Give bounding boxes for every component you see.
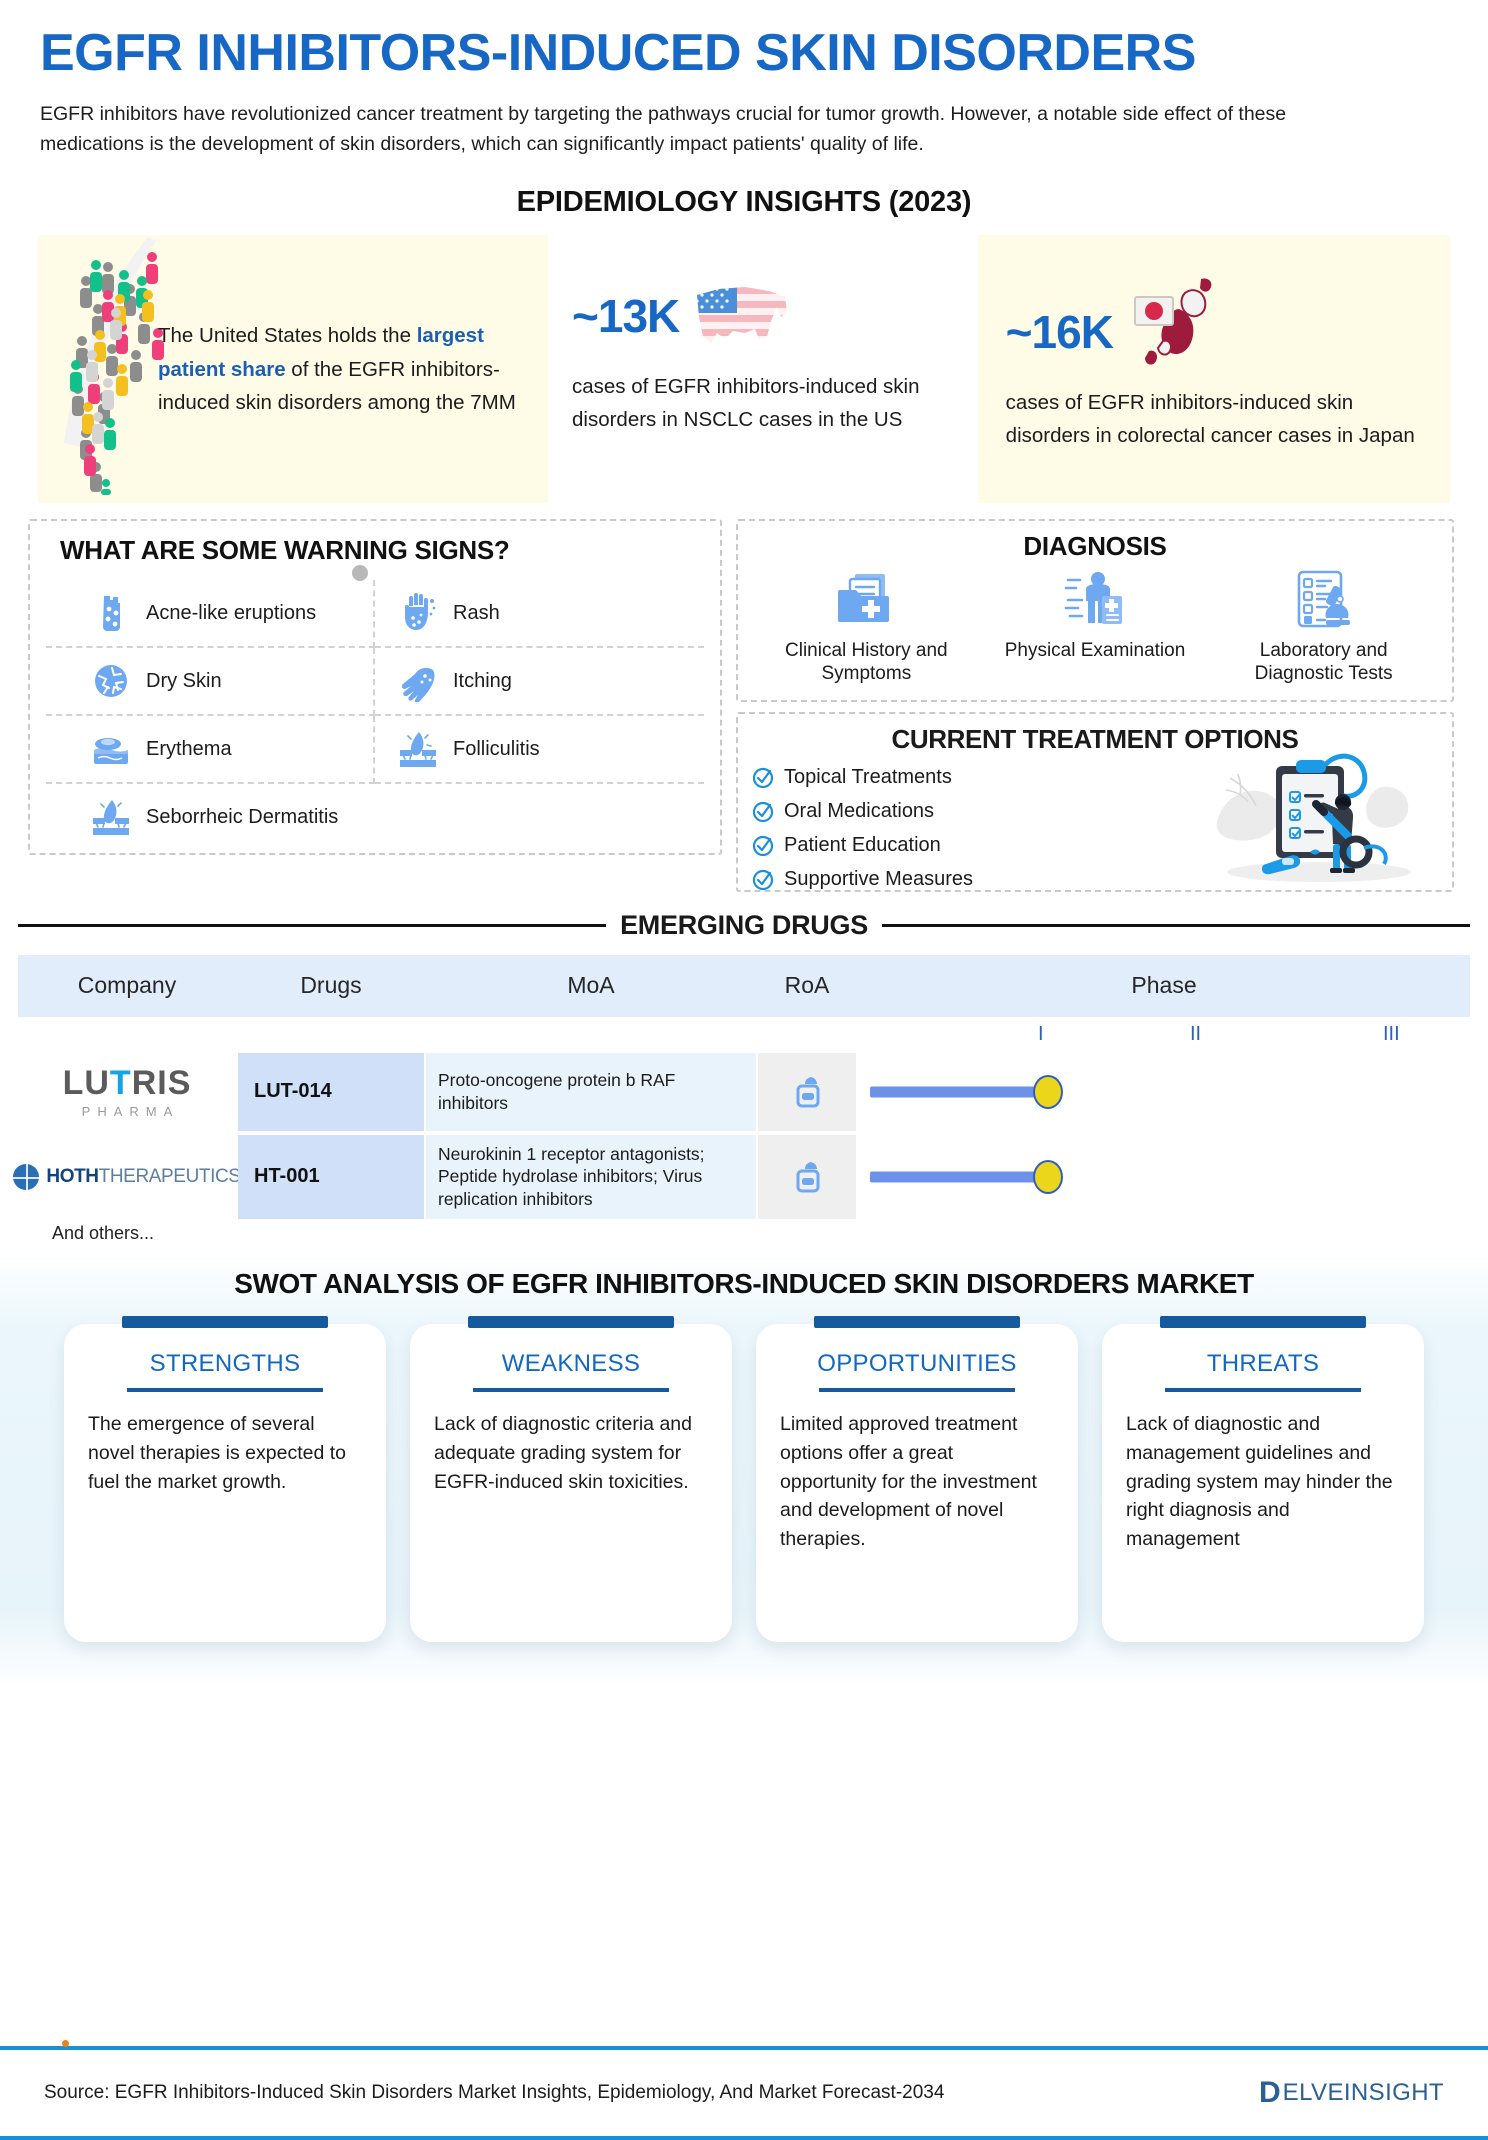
source-text: Source: EGFR Inhibitors-Induced Skin Dis…: [44, 2082, 944, 2104]
swot-underline: [819, 1388, 1015, 1392]
topical-tube-icon: [789, 1074, 825, 1110]
swot-underline: [473, 1388, 669, 1392]
treatment-list: Topical Treatments Oral Medications: [752, 761, 1082, 897]
roa-cell: [758, 1053, 856, 1131]
diagnosis-title: DIAGNOSIS: [752, 531, 1438, 562]
treatment-item-label: Topical Treatments: [784, 766, 952, 789]
emerging-drugs-table: Company Drugs MoA RoA Phase I II III LUT…: [18, 955, 1470, 1244]
seborrheic-dermatitis-icon: [90, 796, 132, 838]
phase-bar: [870, 1171, 1048, 1182]
epidemiology-row: The United States holds the largest pati…: [38, 235, 1450, 503]
epi-us-value: ~13K: [572, 293, 679, 339]
swot-card-weakness: WEAKNESS Lack of diagnostic criteria and…: [410, 1316, 732, 1642]
lutris-logo: LUTRIS PHARMA: [63, 1066, 192, 1118]
diagnosis-item: Clinical History and Symptoms: [752, 568, 981, 686]
swot-body: Lack of diagnostic criteria and adequate…: [434, 1410, 708, 1497]
acne-arm-icon: [90, 592, 132, 634]
warning-sign-label: Itching: [453, 669, 512, 693]
itching-hand-icon: [397, 660, 439, 702]
footer-content: Source: EGFR Inhibitors-Induced Skin Dis…: [0, 2050, 1488, 2136]
swot-heading: OPPORTUNITIES: [780, 1350, 1054, 1378]
epi-card-japan-cases: ~16K cases of EGFR inhibitors-induced sk…: [978, 235, 1450, 503]
phase-tick-1: I: [1038, 1023, 1044, 1046]
phase-knob: [1033, 1160, 1063, 1194]
medical-folder-icon: [835, 568, 897, 630]
epi-card-us-share: The United States holds the largest pati…: [38, 235, 548, 503]
diagnosis-item: Physical Examination: [981, 568, 1210, 686]
erythema-skin-icon: [90, 728, 132, 770]
rule-left: [18, 924, 606, 927]
globe-icon: [13, 1164, 39, 1190]
diagnosis-item-label: Clinical History and Symptoms: [758, 640, 975, 686]
epi-us-value-row: ~13K: [572, 293, 950, 355]
warning-signs-grid: Acne-like eruptions Rash: [46, 580, 704, 850]
treatment-item-label: Supportive Measures: [784, 868, 973, 891]
swot-heading: STRENGTHS: [88, 1350, 362, 1378]
warning-sign-item: Rash: [375, 580, 704, 648]
epi-japan-value: ~16K: [1006, 309, 1113, 355]
physical-exam-icon: [1064, 568, 1126, 630]
phase-cell: [858, 1135, 1470, 1219]
treatment-item: Oral Medications: [752, 795, 1082, 829]
swot-heading: THREATS: [1126, 1350, 1400, 1378]
epi-text-before: The United States holds the: [158, 324, 417, 347]
company-cell: LUTRIS PHARMA: [18, 1053, 236, 1131]
hoth-wordmark: HOTHTHERAPEUTICS: [46, 1166, 240, 1188]
rule-right: [882, 924, 1470, 927]
warning-sign-label: Erythema: [146, 737, 232, 761]
phase-tick-3: III: [1383, 1023, 1400, 1046]
column-header-roa: RoA: [758, 955, 856, 1017]
diagnosis-item: Laboratory and Diagnostic Tests: [1209, 568, 1438, 686]
and-others-note: And others...: [52, 1223, 1470, 1244]
warning-sign-item: Folliculitis: [375, 716, 704, 784]
delveinsight-logo: D ELVEINSIGHT: [1259, 2078, 1444, 2108]
swot-body: The emergence of several novel therapies…: [88, 1410, 362, 1497]
column-header-phase: Phase: [858, 955, 1470, 1017]
drug-name-cell: LUT-014: [238, 1053, 424, 1131]
epi-japan-value-row: ~16K: [1006, 309, 1424, 371]
treatment-item-label: Oral Medications: [784, 800, 934, 823]
emerging-drugs-header: EMERGING DRUGS: [18, 910, 1470, 941]
swot-tab: [1160, 1316, 1366, 1328]
treatment-item: Topical Treatments: [752, 761, 1082, 795]
swot-cards: STRENGTHS The emergence of several novel…: [0, 1316, 1488, 1642]
phase-bar: [870, 1086, 1048, 1097]
hoth-light: THERAPEUTICS: [99, 1166, 241, 1187]
swot-section: SWOT ANALYSIS OF EGFR INHIBITORS-INDUCED…: [0, 1254, 1488, 1688]
warning-sign-item: Acne-like eruptions: [46, 580, 375, 648]
dry-skin-icon: [90, 660, 132, 702]
rash-hand-icon: [397, 592, 439, 634]
table-header-row: Company Drugs MoA RoA Phase: [18, 955, 1470, 1017]
logo-dot: [62, 2040, 69, 2047]
treatment-item: Patient Education: [752, 829, 1082, 863]
swot-heading: WEAKNESS: [434, 1350, 708, 1378]
warning-sign-label: Seborrheic Dermatitis: [146, 805, 338, 829]
moa-cell: Neurokinin 1 receptor antagonists; Pepti…: [426, 1135, 756, 1219]
check-circle-icon: [752, 767, 774, 789]
table-body: LUTRIS PHARMA LUT-014 Proto-oncogene pro…: [18, 1053, 1470, 1219]
lutris-wordmark: LUTRIS: [63, 1066, 192, 1100]
swot-card: STRENGTHS The emergence of several novel…: [64, 1324, 386, 1642]
warning-signs-panel: WHAT ARE SOME WARNING SIGNS? Acne-like e…: [28, 519, 722, 855]
warning-sign-label: Acne-like eruptions: [146, 601, 316, 625]
swot-title: SWOT ANALYSIS OF EGFR INHIBITORS-INDUCED…: [0, 1268, 1488, 1300]
swot-card: OPPORTUNITIES Limited approved treatment…: [756, 1324, 1078, 1642]
swot-tab: [814, 1316, 1020, 1328]
right-column: DIAGNOSIS Clinical History and Sym: [736, 519, 1454, 892]
column-header-moa: MoA: [426, 955, 756, 1017]
phase-tick-2: II: [1190, 1023, 1201, 1046]
diagnosis-item-label: Physical Examination: [1005, 640, 1186, 663]
epi-japan-cases-text: cases of EGFR inhibitors-induced skin di…: [1006, 387, 1424, 453]
logo-d: D: [1259, 2078, 1281, 2108]
epidemiology-title: EPIDEMIOLOGY INSIGHTS (2023): [0, 186, 1488, 219]
treatment-item-label: Patient Education: [784, 834, 941, 857]
header: EGFR INHIBITORS-INDUCED SKIN DISORDERS E…: [0, 0, 1488, 160]
infographic-page: EGFR INHIBITORS-INDUCED SKIN DISORDERS E…: [0, 0, 1488, 2140]
hoth-bold: HOTH: [46, 1166, 98, 1187]
swot-body: Limited approved treatment options offer…: [780, 1410, 1054, 1554]
moa-cell: Proto-oncogene protein b RAF inhibitors: [426, 1053, 756, 1131]
logo-wordmark: ELVEINSIGHT: [1283, 2079, 1444, 2107]
swot-tab: [122, 1316, 328, 1328]
warning-sign-item: Itching: [375, 648, 704, 716]
swot-card-opportunities: OPPORTUNITIES Limited approved treatment…: [756, 1316, 1078, 1642]
company-cell: HOTHTHERAPEUTICS: [18, 1135, 236, 1219]
warning-sign-item: Erythema: [46, 716, 375, 784]
swot-card: WEAKNESS Lack of diagnostic criteria and…: [410, 1324, 732, 1642]
drug-name-cell: HT-001: [238, 1135, 424, 1219]
warning-sign-label: Folliculitis: [453, 737, 540, 761]
usa-flag-map-icon: [689, 277, 793, 355]
treatment-panel: CURRENT TREATMENT OPTIONS Topical Treatm…: [736, 712, 1454, 892]
warning-signs-title: WHAT ARE SOME WARNING SIGNS?: [46, 535, 704, 566]
swot-card-threats: THREATS Lack of diagnostic and managemen…: [1102, 1316, 1424, 1642]
warning-sign-item: Dry Skin: [46, 648, 375, 716]
phase-scale: I II III: [18, 1019, 1470, 1053]
lutris-subtitle: PHARMA: [63, 1105, 192, 1118]
emerging-drugs-title: EMERGING DRUGS: [620, 910, 868, 941]
hoth-logo: HOTHTHERAPEUTICS: [13, 1164, 240, 1190]
column-header-company: Company: [18, 955, 236, 1017]
epi-card-us-cases: ~13K: [548, 235, 978, 503]
phase-cell: [858, 1053, 1470, 1131]
phase-knob: [1033, 1075, 1063, 1109]
japan-flag-map-icon: [1123, 275, 1227, 371]
epi-us-cases-text: cases of EGFR inhibitors-induced skin di…: [572, 371, 950, 437]
page-title: EGFR INHIBITORS-INDUCED SKIN DISORDERS: [40, 26, 1448, 81]
middle-section: WHAT ARE SOME WARNING SIGNS? Acne-like e…: [28, 519, 1460, 892]
check-circle-icon: [752, 869, 774, 891]
warning-sign-item: Seborrheic Dermatitis: [46, 784, 704, 850]
diagnosis-panel: DIAGNOSIS Clinical History and Sym: [736, 519, 1454, 702]
clipboard-person-illustration: [1204, 748, 1434, 884]
swot-card-strengths: STRENGTHS The emergence of several novel…: [64, 1316, 386, 1642]
diagnosis-items: Clinical History and Symptoms: [752, 568, 1438, 686]
warning-sign-label: Dry Skin: [146, 669, 222, 693]
footer: Source: EGFR Inhibitors-Induced Skin Dis…: [0, 2046, 1488, 2140]
footer-bottom-rule: [0, 2136, 1488, 2140]
folliculitis-icon: [397, 728, 439, 770]
swot-underline: [1165, 1388, 1361, 1392]
swot-body: Lack of diagnostic and management guidel…: [1126, 1410, 1400, 1554]
check-circle-icon: [752, 801, 774, 823]
diagnosis-item-label: Laboratory and Diagnostic Tests: [1215, 640, 1432, 686]
intro-paragraph: EGFR inhibitors have revolutionized canc…: [40, 99, 1330, 161]
treatment-item: Supportive Measures: [752, 863, 1082, 897]
swot-underline: [127, 1388, 323, 1392]
check-circle-icon: [752, 835, 774, 857]
roa-cell: [758, 1135, 856, 1219]
grey-dot-marker: [352, 565, 368, 581]
epi-us-share-text: The United States holds the largest pati…: [158, 319, 548, 419]
topical-tube-icon: [789, 1159, 825, 1195]
table-row: LUTRIS PHARMA LUT-014 Proto-oncogene pro…: [18, 1053, 1470, 1131]
table-row: HOTHTHERAPEUTICS HT-001 Neurokinin 1 rec…: [18, 1135, 1470, 1219]
swot-tab: [468, 1316, 674, 1328]
warning-sign-label: Rash: [453, 601, 500, 625]
swot-card: THREATS Lack of diagnostic and managemen…: [1102, 1324, 1424, 1642]
microscope-checklist-icon: [1293, 568, 1355, 630]
column-header-drugs: Drugs: [238, 955, 424, 1017]
